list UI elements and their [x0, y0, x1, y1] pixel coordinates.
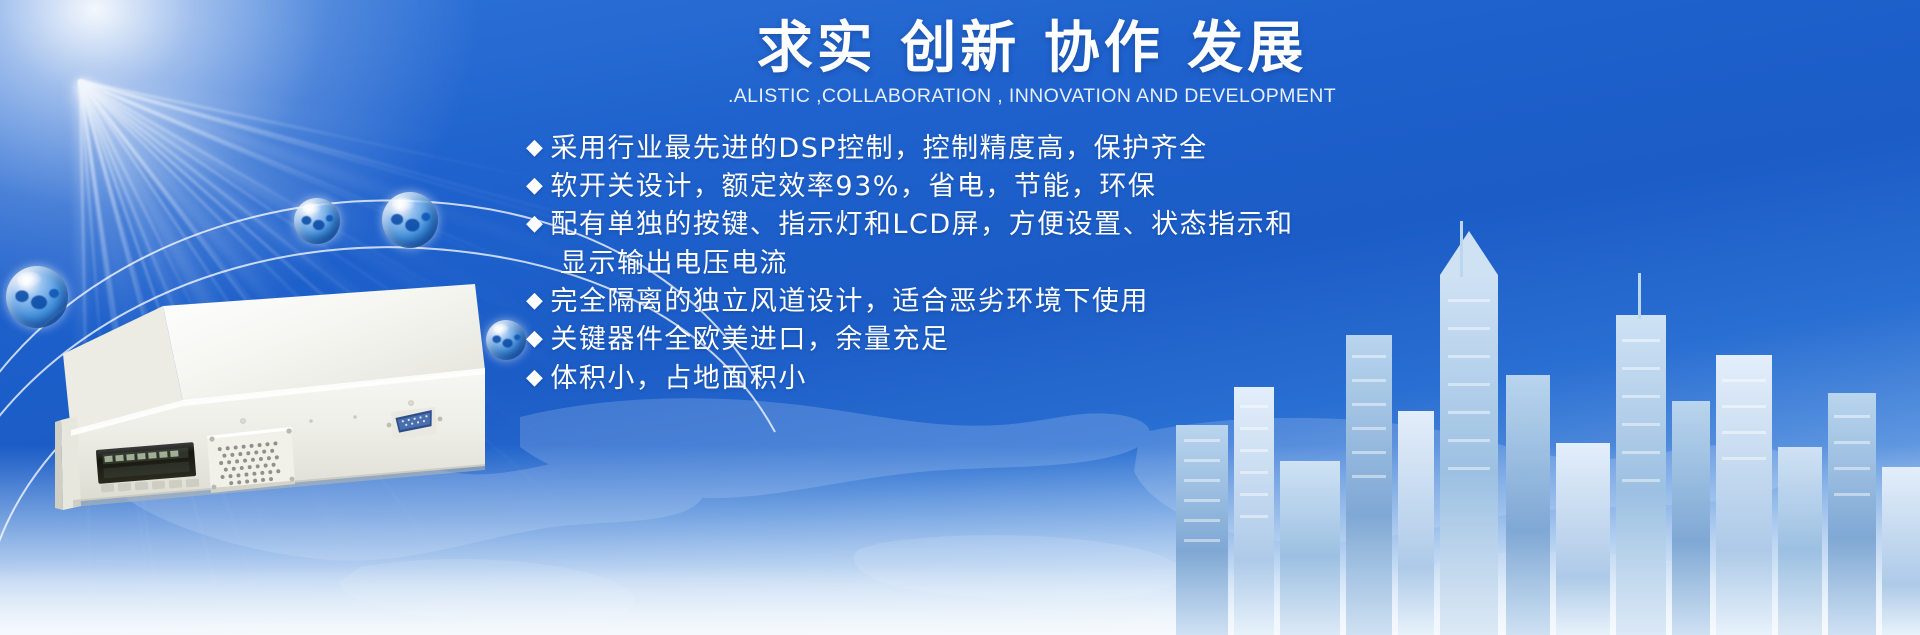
feature-list-item: ◆显示输出电压电流: [526, 245, 1552, 283]
feature-list-item-label: 体积小，占地面积小: [550, 360, 807, 398]
power-supply-device-image: [55, 270, 485, 520]
feature-list-item-label: 软开关设计，额定效率93%，省电，节能，环保: [550, 168, 1156, 206]
banner-text-block: 求实 创新 协作 发展 .ALISTIC ,COLLABORATION , IN…: [512, 18, 1552, 398]
feature-list-item-label: 完全隔离的独立风道设计，适合恶劣环境下使用: [550, 283, 1149, 321]
diamond-bullet-icon: ◆: [526, 130, 544, 166]
feature-list-item: ◆体积小，占地面积小: [526, 360, 1552, 398]
feature-list-item: ◆完全隔离的独立风道设计，适合恶劣环境下使用: [526, 283, 1552, 321]
diamond-bullet-icon: ◆: [526, 321, 544, 357]
diamond-bullet-icon: ◆: [526, 168, 544, 204]
feature-list-item: ◆采用行业最先进的DSP控制，控制精度高，保护齐全: [526, 130, 1552, 168]
feature-list-item-label: 配有单独的按键、指示灯和LCD屏，方便设置、状态指示和: [550, 206, 1293, 244]
horizon-glow-lower: [0, 565, 1920, 635]
promo-banner: 求实 创新 协作 发展 .ALISTIC ,COLLABORATION , IN…: [0, 0, 1920, 635]
feature-list-item: ◆配有单独的按键、指示灯和LCD屏，方便设置、状态指示和: [526, 206, 1552, 244]
page-title: 求实 创新 协作 发展: [512, 18, 1552, 81]
feature-list: ◆采用行业最先进的DSP控制，控制精度高，保护齐全◆软开关设计，额定效率93%，…: [512, 130, 1552, 398]
globe-icon: [294, 198, 340, 244]
diamond-bullet-icon: ◆: [526, 360, 544, 396]
diamond-bullet-icon: ◆: [526, 283, 544, 319]
feature-list-item: ◆关键器件全欧美进口，余量充足: [526, 321, 1552, 359]
globe-icon: [382, 192, 438, 248]
diamond-bullet-icon: ◆: [526, 206, 544, 242]
page-subtitle: .ALISTIC ,COLLABORATION , INNOVATION AND…: [512, 85, 1552, 108]
feature-list-item-label: 关键器件全欧美进口，余量充足: [550, 321, 949, 359]
feature-list-item-label: 采用行业最先进的DSP控制，控制精度高，保护齐全: [550, 130, 1207, 168]
feature-list-item: ◆软开关设计，额定效率93%，省电，节能，环保: [526, 168, 1552, 206]
feature-list-item-label: 显示输出电压电流: [560, 245, 788, 283]
